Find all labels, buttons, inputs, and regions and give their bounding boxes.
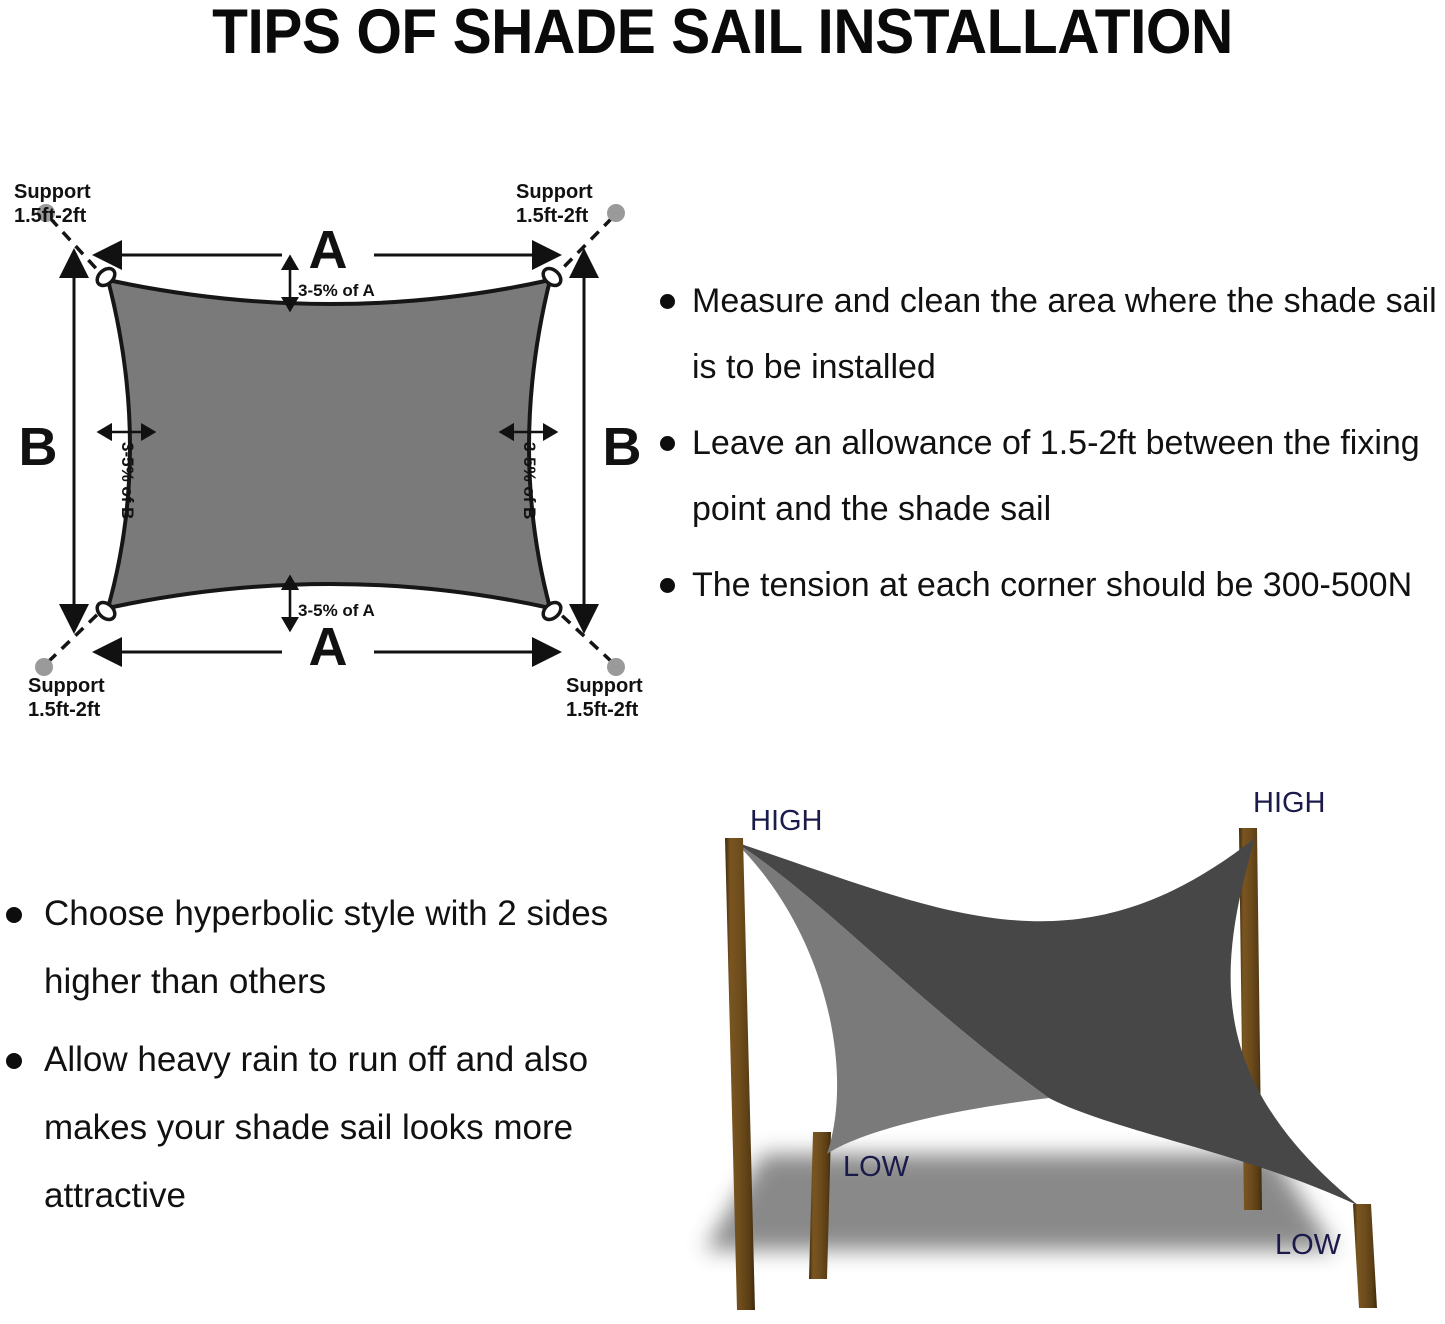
label-low-left: LOW: [843, 1151, 910, 1183]
support-dot-top-right: [607, 204, 625, 222]
curve-callout-left-label: 3-5% of B: [118, 442, 137, 519]
curve-callout-bottom: 3-5% of A: [290, 590, 375, 622]
support-leader-bottom-right: [556, 610, 612, 662]
dim-a-bottom-letter: A: [309, 617, 348, 677]
list-item: Allow heavy rain to run off and also mak…: [0, 1026, 630, 1230]
list-item: Measure and clean the area where the sha…: [648, 268, 1445, 400]
dim-b-right-letter: B: [603, 417, 642, 477]
rectangular-sail-diagram: Support 1.5ft-2ft Support 1.5ft-2ft Supp…: [0, 160, 660, 735]
bullet-dot-icon: [6, 907, 22, 923]
support-label-top-left-line2: 1.5ft-2ft: [14, 205, 87, 227]
ground-shadow: [705, 1154, 1335, 1250]
support-label-bottom-left-line2: 1.5ft-2ft: [28, 699, 101, 721]
hyperbolic-sail-diagram: HIGH HIGH LOW LOW: [645, 780, 1445, 1319]
list-item-text: The tension at each corner should be 300…: [692, 566, 1412, 604]
bullet-dot-icon: [660, 436, 675, 451]
installation-tips-panel: Measure and clean the area where the sha…: [648, 268, 1445, 658]
dimension-a-top: A: [122, 220, 538, 280]
label-high-right: HIGH: [1253, 787, 1326, 819]
dim-b-left-letter: B: [19, 417, 58, 477]
support-label-top-right-line2: 1.5ft-2ft: [516, 205, 589, 227]
list-item-text: Allow heavy rain to run off and also mak…: [44, 1040, 588, 1215]
list-item: Leave an allowance of 1.5-2ft between th…: [648, 410, 1445, 542]
support-label-bottom-left-line1: Support: [28, 675, 105, 697]
rect-sail-svg: Support 1.5ft-2ft Support 1.5ft-2ft Supp…: [0, 160, 660, 735]
dimension-a-bottom: A: [122, 617, 538, 677]
bullet-dot-icon: [660, 578, 675, 593]
bullet-dot-icon: [6, 1053, 22, 1069]
list-item-text: Choose hyperbolic style with 2 sides hig…: [44, 894, 608, 1001]
hyperbolic-sail-svg: HIGH HIGH LOW LOW: [645, 780, 1445, 1319]
label-high-left: HIGH: [750, 805, 823, 837]
hyperbolic-tips-panel: Choose hyperbolic style with 2 sides hig…: [0, 880, 630, 1210]
support-label-bottom-right-line1: Support: [566, 675, 643, 697]
bullet-dot-icon: [660, 294, 675, 309]
post-low-right: [1353, 1204, 1377, 1308]
list-item: The tension at each corner should be 300…: [648, 552, 1445, 618]
list-item: Choose hyperbolic style with 2 sides hig…: [0, 880, 630, 1016]
list-item-text: Measure and clean the area where the sha…: [692, 282, 1437, 386]
support-label-top-right-line1: Support: [516, 181, 593, 203]
curve-callout-bottom-label: 3-5% of A: [298, 601, 375, 620]
support-dot-bottom-right: [607, 658, 625, 676]
label-low-right: LOW: [1275, 1229, 1342, 1261]
curve-callout-right-label: 3-5% of B: [520, 442, 539, 519]
hyperbolic-tips-list: Choose hyperbolic style with 2 sides hig…: [0, 880, 630, 1230]
curve-callout-top-label: 3-5% of A: [298, 281, 375, 300]
dim-a-top-letter: A: [309, 220, 348, 280]
list-item-text: Leave an allowance of 1.5-2ft between th…: [692, 424, 1420, 528]
support-label-top-left-line1: Support: [14, 181, 91, 203]
support-leader-bottom-left: [48, 610, 102, 662]
dimension-b-left: B: [19, 278, 75, 610]
page-title: TIPS OF SHADE SAIL INSTALLATION: [51, 0, 1395, 66]
support-label-bottom-right-line2: 1.5ft-2ft: [566, 699, 639, 721]
support-dot-bottom-left: [35, 658, 53, 676]
shade-sail-body: [108, 280, 550, 608]
dimension-b-right: B: [584, 278, 642, 610]
installation-tips-list: Measure and clean the area where the sha…: [648, 268, 1445, 618]
